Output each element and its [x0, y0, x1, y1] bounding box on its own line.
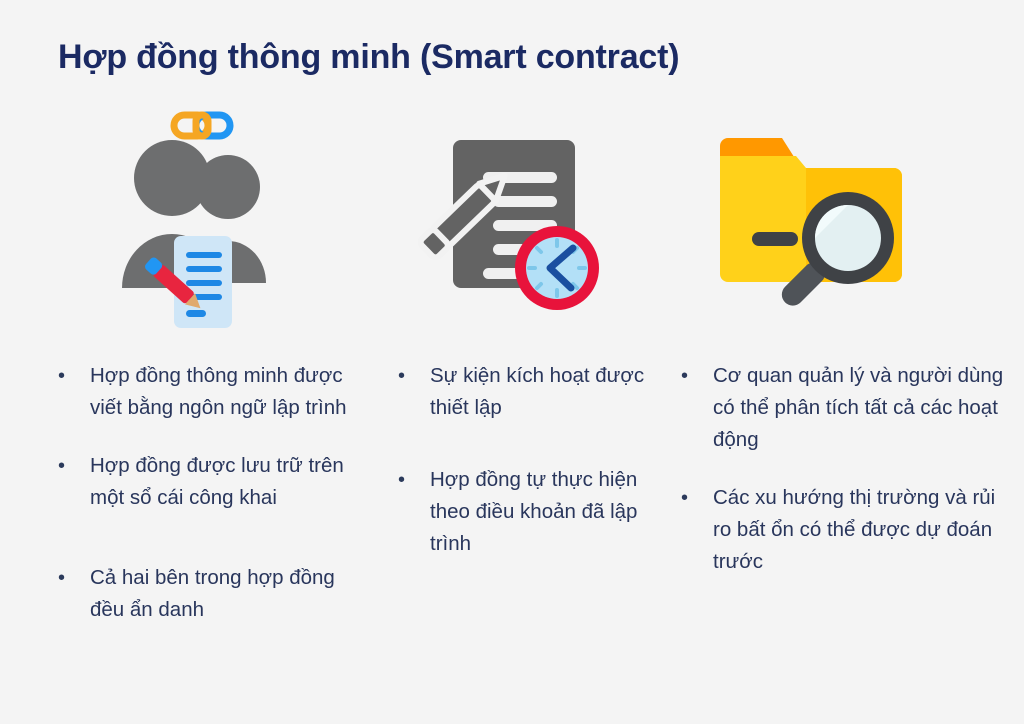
bullet-dot-icon: • [675, 482, 713, 514]
list-item: • Các xu hướng thị trường và rủi ro bất … [675, 482, 1005, 578]
bullet-column-1: • Hợp đồng thông minh được viết bằng ngô… [52, 360, 362, 652]
slide-root: Hợp đồng thông minh (Smart contract) [0, 0, 1024, 724]
bullet-dot-icon: • [392, 360, 430, 392]
folder-with-magnifier-icon [700, 108, 930, 333]
list-item: • Hợp đồng tự thực hiện theo điều khoản … [392, 464, 672, 560]
icon-document-clock [405, 108, 620, 333]
bullet-text: Cả hai bên trong hợp đồng đều ẩn danh [90, 562, 362, 626]
icon-folder-search [700, 108, 930, 333]
two-people-with-chain-and-signed-document-icon [110, 108, 310, 333]
folder-label [752, 232, 798, 246]
bullet-text: Hợp đồng thông minh được viết bằng ngôn … [90, 360, 362, 424]
bullet-text: Hợp đồng tự thực hiện theo điều khoản đã… [430, 464, 672, 560]
document-with-pencil-and-clock-icon [405, 108, 620, 333]
bullet-column-2: • Sự kiện kích hoạt được thiết lập • Hợp… [392, 360, 672, 586]
list-item: • Cơ quan quản lý và người dùng có thể p… [675, 360, 1005, 456]
list-item: • Hợp đồng được lưu trữ trên một sổ cái … [52, 450, 362, 514]
bullet-text: Hợp đồng được lưu trữ trên một sổ cái cô… [90, 450, 362, 514]
bullet-dot-icon: • [392, 464, 430, 496]
bullet-column-3: • Cơ quan quản lý và người dùng có thể p… [675, 360, 1005, 604]
clock-icon [515, 226, 599, 310]
bullet-text: Các xu hướng thị trường và rủi ro bất ổn… [713, 482, 1005, 578]
bullet-columns: • Hợp đồng thông minh được viết bằng ngô… [0, 360, 1024, 690]
bullet-text: Cơ quan quản lý và người dùng có thể phâ… [713, 360, 1005, 456]
bullet-dot-icon: • [52, 360, 90, 392]
bullet-dot-icon: • [52, 450, 90, 482]
bullet-text: Sự kiện kích hoạt được thiết lập [430, 360, 672, 424]
bullet-dot-icon: • [52, 562, 90, 594]
signed-document-icon [174, 236, 232, 328]
icon-people-contract [110, 108, 310, 333]
list-item: • Hợp đồng thông minh được viết bằng ngô… [52, 360, 362, 424]
icons-row [0, 108, 1024, 333]
bullet-dot-icon: • [675, 360, 713, 392]
chain-link-icon [174, 115, 230, 136]
page-title: Hợp đồng thông minh (Smart contract) [58, 38, 679, 77]
list-item: • Cả hai bên trong hợp đồng đều ẩn danh [52, 562, 362, 626]
list-item: • Sự kiện kích hoạt được thiết lập [392, 360, 672, 424]
